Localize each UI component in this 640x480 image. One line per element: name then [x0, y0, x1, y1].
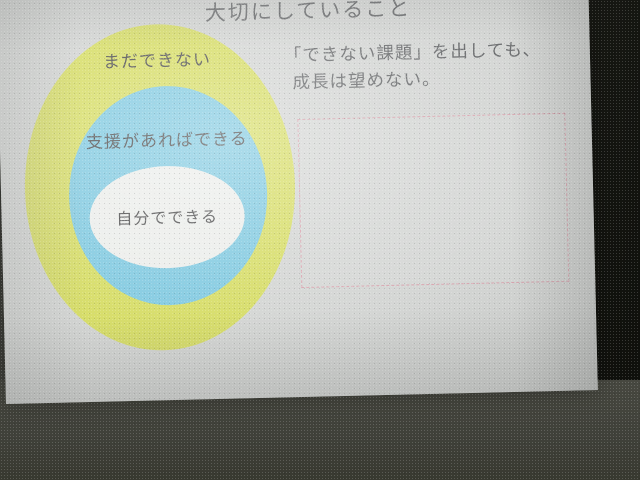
diagram-ring-inner-label: 自分でできる: [89, 202, 245, 230]
slide-body-text: 「できない課題」を出しても、 成長は望めない。: [284, 37, 575, 98]
slide-surface: 大切にしていること まだできない 支援があればできる 自分でできる 「できない課…: [0, 0, 598, 404]
diagram-ring-middle-label: 支援があればできる: [68, 124, 267, 154]
diagram-ring-outer-label: まだできない: [22, 43, 293, 74]
page-title: 大切にしていること: [204, 0, 411, 27]
empty-placeholder-box: [297, 113, 569, 288]
slide-body-line-1: 「できない課題」を出しても、: [284, 40, 541, 66]
screenshot-root: 大切にしていること まだできない 支援があればできる 自分でできる 「できない課…: [0, 0, 640, 480]
slide-body-line-2: 成長は望めない。: [292, 64, 575, 98]
projected-slide-container: 大切にしていること まだできない 支援があればできる 自分でできる 「できない課…: [0, 0, 598, 404]
